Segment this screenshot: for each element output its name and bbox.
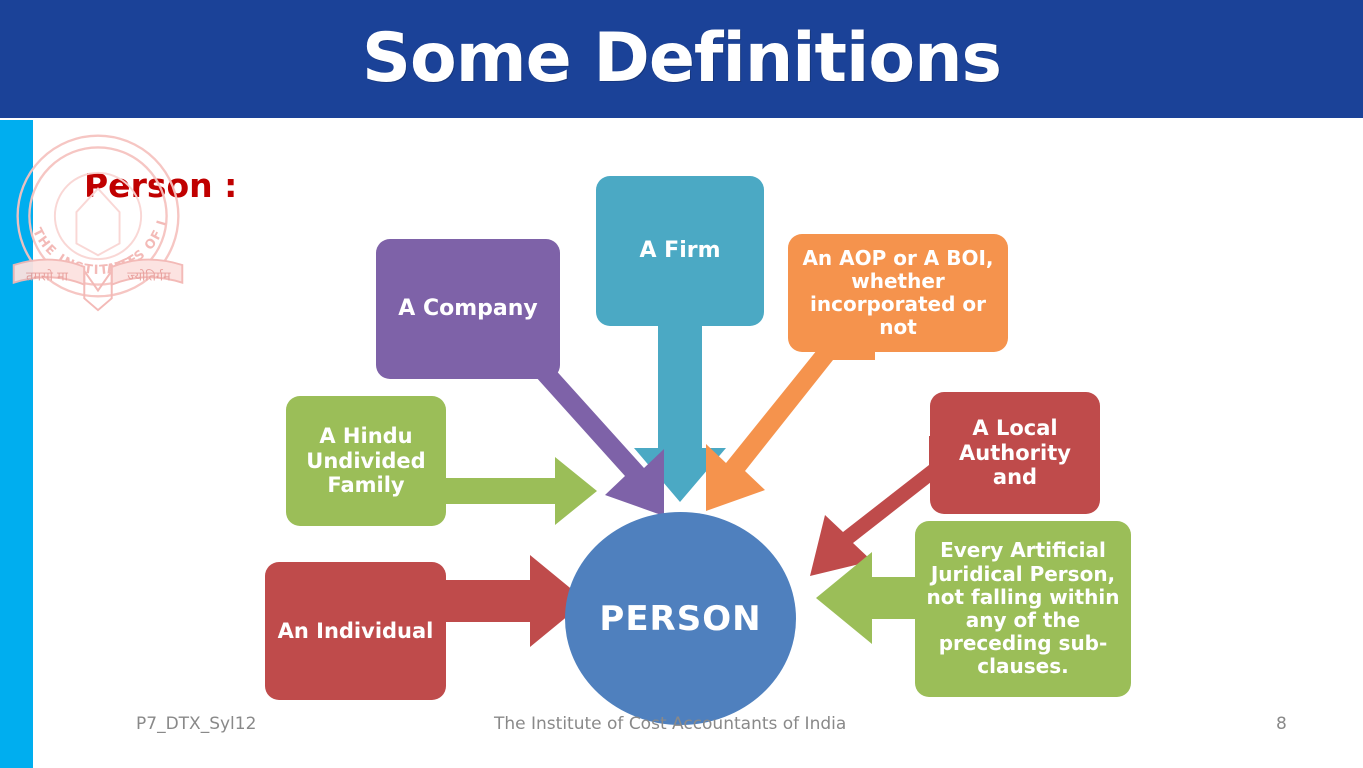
page-title: Some Definitions — [0, 0, 1363, 118]
footer-code: P7_DTX_Syl12 — [136, 714, 256, 734]
node-an-individual[interactable]: An Individual — [265, 562, 446, 700]
node-a-firm[interactable]: A Firm — [596, 176, 764, 326]
node-hindu-undivided-family[interactable]: A Hindu Undivided Family — [286, 396, 446, 526]
footer-institute-name: The Institute of Cost Accountants of Ind… — [494, 714, 846, 734]
slide-canvas: Some Definitions Person : — [0, 0, 1363, 768]
node-artificial-juridical-person[interactable]: Every Artificial Juridical Person, not f… — [915, 521, 1131, 697]
arrow-aop-to-person — [706, 350, 875, 511]
node-aop-or-boi[interactable]: An AOP or A BOI, whether incorporated or… — [788, 234, 1008, 352]
person-definition-diagram: THE INSTITUTE ANTS OF INDIA तमसो मा ज्यो… — [0, 118, 1363, 708]
arrow-hindu-to-person — [430, 454, 597, 525]
node-local-authority[interactable]: A Local Authority and — [930, 392, 1100, 514]
footer-page-number: 8 — [1276, 714, 1287, 734]
arrow-individual-to-person — [435, 555, 586, 647]
slide-footer: P7_DTX_Syl12 The Institute of Cost Accou… — [0, 714, 1363, 746]
center-node-person[interactable]: PERSON — [565, 512, 796, 725]
node-a-company[interactable]: A Company — [376, 239, 560, 379]
